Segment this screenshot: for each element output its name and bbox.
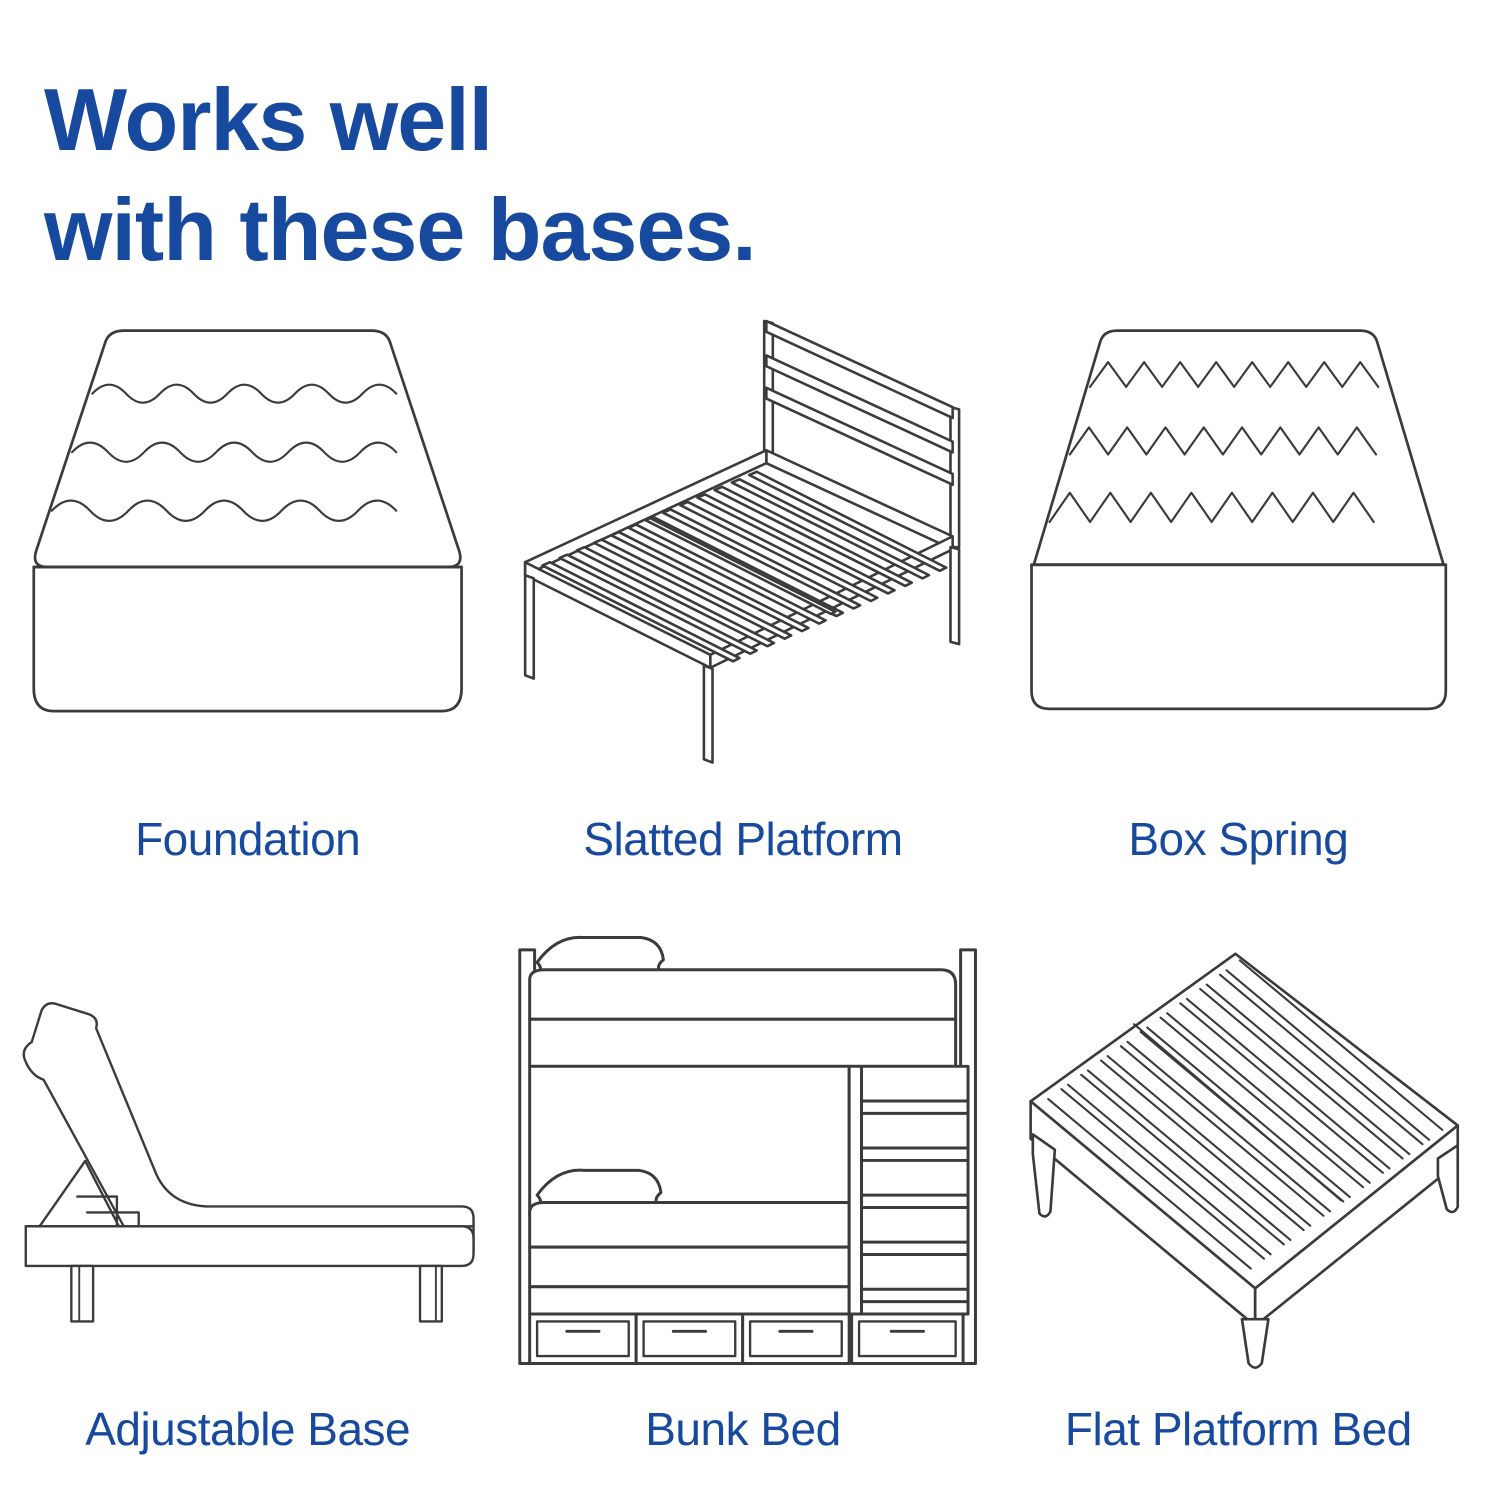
ladder-rung — [862, 1101, 968, 1113]
drawer[interactable] — [636, 1314, 742, 1364]
ladder-rung — [862, 1289, 968, 1301]
base-label-flat-platform-bed: Flat Platform Bed — [1065, 1396, 1412, 1486]
headline-line-1: Works well — [44, 65, 1044, 175]
promo-graphic: Works well with these bases. — [0, 0, 1486, 1486]
bed-frame-platform — [525, 450, 952, 668]
leg-rear — [420, 1266, 442, 1321]
box-spring-illustration — [991, 250, 1486, 812]
foundation-illustration — [0, 250, 495, 812]
drawer[interactable] — [530, 1314, 636, 1364]
leg-right — [1438, 1145, 1458, 1212]
compatible-bases-grid: Foundation — [0, 250, 1486, 1486]
ladder-rail-left — [849, 1066, 861, 1314]
adjustable-base-icon — [0, 910, 495, 1396]
base-card-bunk-bed: Bunk Bed — [495, 910, 990, 1486]
slatted-platform-illustration — [495, 250, 990, 812]
base-label-box-spring: Box Spring — [1128, 812, 1348, 910]
leg-front — [1242, 1319, 1268, 1367]
ladder-rung — [862, 1242, 968, 1254]
mattress-foundation-icon — [0, 250, 495, 812]
box-spring-icon — [991, 250, 1486, 812]
drawer[interactable] — [743, 1314, 849, 1364]
bunk-bed-illustration — [495, 910, 990, 1396]
slatted-platform-bed-icon — [495, 250, 990, 812]
bunk-bed-icon — [495, 910, 990, 1396]
ladder-rung — [862, 1148, 968, 1160]
base-label-slatted-platform: Slatted Platform — [583, 812, 902, 910]
base-card-flat-platform-bed: Flat Platform Bed — [991, 910, 1486, 1486]
base-card-adjustable-base: Adjustable Base — [0, 910, 495, 1486]
base-label-foundation: Foundation — [135, 812, 360, 910]
adjustable-base-illustration — [0, 910, 495, 1396]
leg-left — [1032, 1134, 1054, 1216]
storage-drawers — [530, 1314, 963, 1364]
base-label-bunk-bed: Bunk Bed — [645, 1396, 840, 1486]
ladder-rung — [862, 1195, 968, 1207]
base-card-box-spring: Box Spring — [991, 250, 1486, 910]
leg-front — [71, 1266, 93, 1321]
top-bunk — [530, 937, 956, 1066]
base-card-slatted-platform: Slatted Platform — [495, 250, 990, 910]
base-card-foundation: Foundation — [0, 250, 495, 910]
flat-platform-bed-icon — [991, 910, 1486, 1396]
ladder — [849, 1066, 968, 1314]
drawer[interactable] — [852, 1314, 963, 1364]
flat-platform-bed-illustration — [991, 910, 1486, 1396]
base-label-adjustable-base: Adjustable Base — [85, 1396, 410, 1486]
